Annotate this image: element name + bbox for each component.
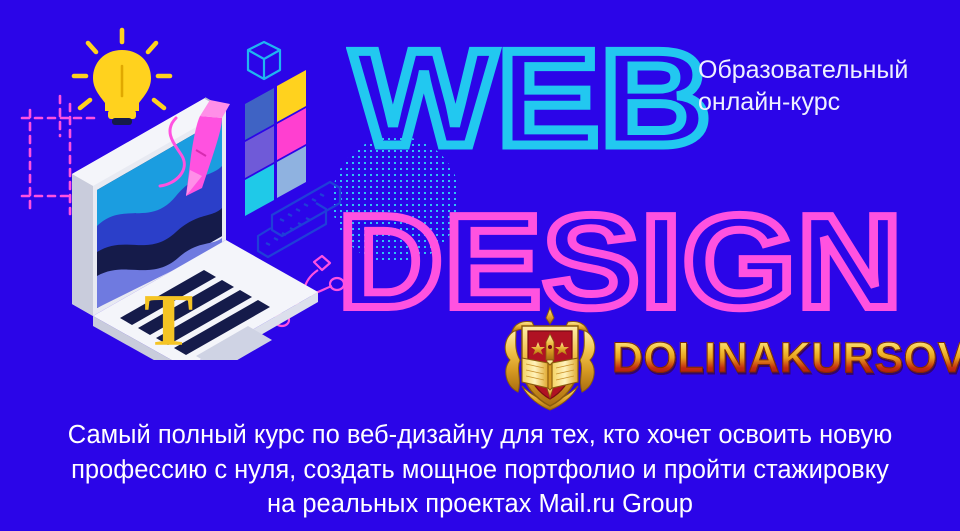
caption-text: Самый полный курс по веб-дизайну для тех… (0, 418, 960, 522)
cube-icon (248, 42, 280, 79)
caption-line-3: на реальных проектах Mail.ru Group (8, 487, 952, 522)
caption-line-2: профессию с нуля, создать мощное портфол… (8, 453, 952, 488)
kicker-line-1: Образовательный (698, 54, 950, 86)
color-swatch-grid (245, 70, 306, 216)
caption-line-1: Самый полный курс по веб-дизайну для тех… (8, 418, 952, 453)
web-design-illustration: T (0, 0, 350, 360)
watermark: DOLINAKURSOV (492, 300, 960, 416)
type-glyph-t: T (144, 280, 193, 360)
watermark-text: DOLINAKURSOV (612, 337, 960, 380)
headline-web: WEB (352, 30, 712, 166)
lightbulb-icon (74, 30, 170, 125)
kicker-line-2: онлайн-курс (698, 86, 950, 118)
kicker-text: Образовательный онлайн-курс (698, 54, 950, 118)
web-design-course-banner: T WEB DESIGN Образовательный онлайн-курс (0, 0, 960, 531)
crest-shield-icon (492, 300, 608, 416)
